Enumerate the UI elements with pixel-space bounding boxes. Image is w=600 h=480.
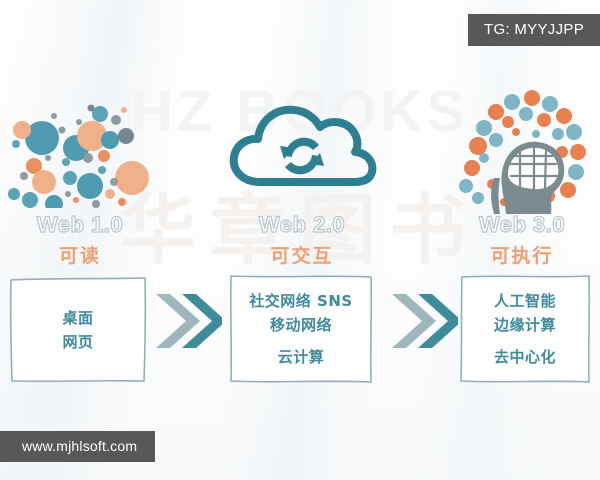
stage-box-text-web2: 社交网络 SNS 移动网络 云计算 <box>228 273 374 385</box>
tg-watermark-badge: TG: MYYJJPP <box>468 14 600 46</box>
brain-head-icon <box>448 86 596 208</box>
stage-column-web3: Web 3.0 可执行 <box>448 86 596 268</box>
box-line: 边缘计算 <box>494 313 556 337</box>
double-chevron-right-icon <box>152 288 222 354</box>
box-line: 云计算 <box>278 345 325 369</box>
stage-label-web2: Web 2.0 <box>222 212 382 238</box>
stage-box-web3[interactable]: 人工智能 边缘计算 去中心化 <box>458 273 592 385</box>
box-line: 去中心化 <box>494 345 556 369</box>
stage-box-text-web1: 桌面 网页 <box>8 276 148 384</box>
stage-box-text-web3: 人工智能 边缘计算 去中心化 <box>458 273 592 385</box>
box-line: 移动网络 <box>270 313 332 337</box>
stage-sublabel-web1: 可读 <box>4 241 156 268</box>
stage-box-web2[interactable]: 社交网络 SNS 移动网络 云计算 <box>228 273 374 385</box>
box-line: 社交网络 SNS <box>249 289 352 313</box>
double-chevron-right-icon <box>388 288 458 354</box>
stage-column-web1: Web 1.0 可读 <box>4 86 156 268</box>
stage-sublabel-web2: 可交互 <box>222 241 382 268</box>
box-line: 网页 <box>62 330 93 354</box>
stage-sublabel-web3: 可执行 <box>448 241 596 268</box>
stage-column-web2: Web 2.0 可交互 <box>222 86 382 268</box>
box-line: 桌面 <box>62 306 93 330</box>
dot-cluster-icon <box>4 86 156 208</box>
stage-label-web1: Web 1.0 <box>4 212 156 238</box>
infographic-canvas: HZ BOOKS 华章图书 <box>0 0 600 480</box>
box-line: 人工智能 <box>494 289 556 313</box>
stage-box-web1[interactable]: 桌面 网页 <box>8 276 148 384</box>
url-watermark-badge: www.mjhlsoft.com <box>0 431 155 462</box>
cloud-sync-icon <box>222 86 382 208</box>
stage-label-web3: Web 3.0 <box>448 212 596 238</box>
